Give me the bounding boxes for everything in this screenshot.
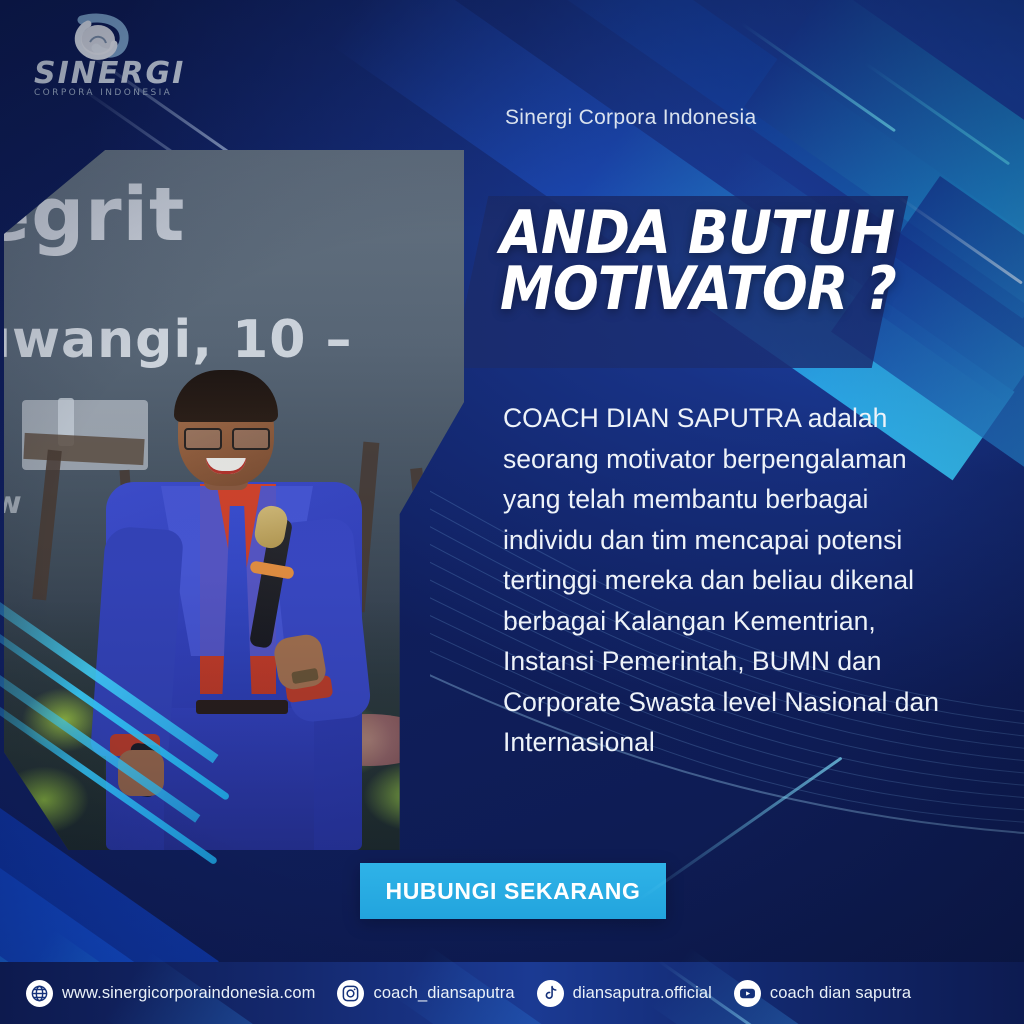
globe-icon [26,980,53,1007]
instagram-icon [337,980,364,1007]
youtube-label: coach dian saputra [770,984,911,1003]
website-label: www.sinergicorporaindonesia.com [62,984,315,1003]
tiktok-icon [537,980,564,1007]
tiktok-link[interactable]: diansaputra.official [537,980,712,1007]
page-title: ANDA BUTUH MOTIVATOR ? [500,206,896,318]
description-paragraph: COACH DIAN SAPUTRA adalah seorang motiva… [503,398,955,763]
instagram-link[interactable]: coach_diansaputra [337,980,514,1007]
social-footer: www.sinergicorporaindonesia.com coach_di… [0,962,1024,1024]
instagram-label: coach_diansaputra [373,984,514,1003]
company-name: Sinergi Corpora Indonesia [505,106,756,130]
website-link[interactable]: www.sinergicorporaindonesia.com [26,980,315,1007]
promo-poster: SINERGI CORPORA INDONESIA egrit uwangi, … [0,0,1024,1024]
headline-line-2: MOTIVATOR ? [500,262,896,318]
tiktok-label: diansaputra.official [573,984,712,1003]
youtube-icon [734,980,761,1007]
youtube-link[interactable]: coach dian saputra [734,980,911,1007]
contact-now-button[interactable]: HUBUNGI SEKARANG [360,863,666,919]
